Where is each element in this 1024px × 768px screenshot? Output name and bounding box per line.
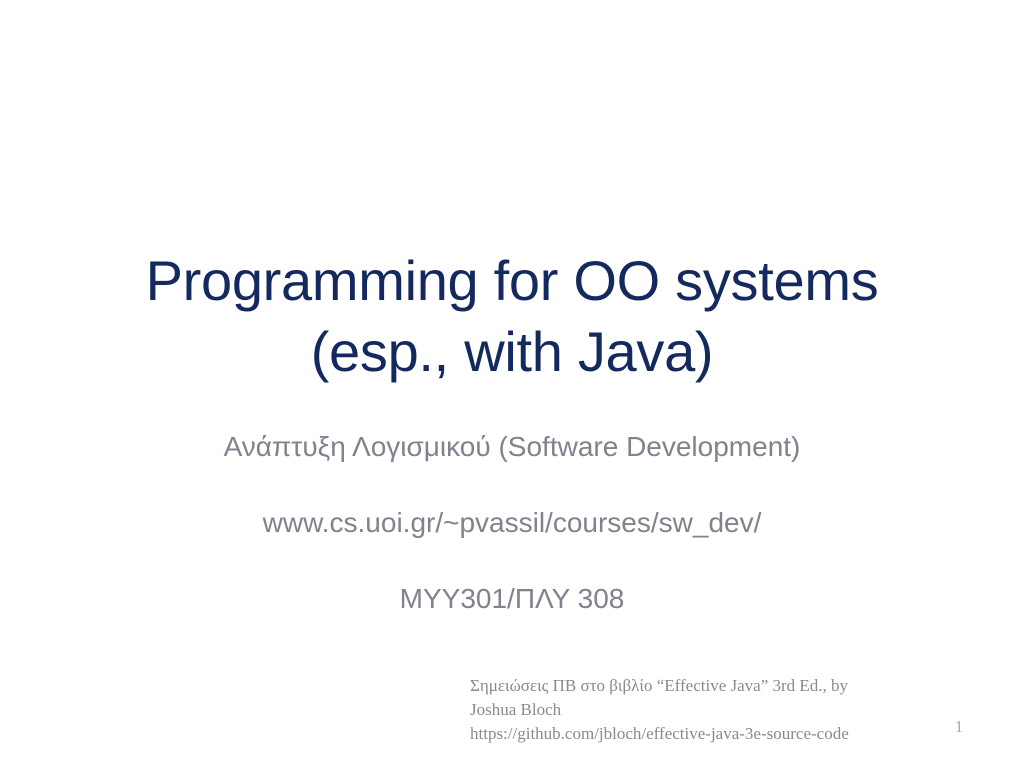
slide-canvas: Programming for OO systems (esp., with J… [0,0,1024,768]
title-line-2: (esp., with Java) [0,317,1024,388]
subtitle-course-url[interactable]: www.cs.uoi.gr/~pvassil/courses/sw_dev/ [0,506,1024,539]
subtitle-spacer-2 [0,539,1024,582]
title-line-1: Programming for OO systems [0,246,1024,317]
slide-subtitle: Ανάπτυξη Λογισμικού (Software Developmen… [0,430,1024,615]
credit-line-1: Σημειώσεις ΠΒ στο βιβλίο “Effective Java… [470,674,930,698]
slide-title: Programming for OO systems (esp., with J… [0,246,1024,387]
credit-line-2: Joshua Bloch [470,698,930,722]
credit-source-url[interactable]: https://github.com/jbloch/effective-java… [470,722,930,746]
subtitle-course-name: Ανάπτυξη Λογισμικού (Software Developmen… [0,430,1024,463]
credit-note: Σημειώσεις ΠΒ στο βιβλίο “Effective Java… [470,674,930,746]
subtitle-spacer-1 [0,463,1024,506]
page-number: 1 [944,718,974,735]
subtitle-course-code: ΜΥΥ301/ΠΛΥ 308 [0,582,1024,615]
